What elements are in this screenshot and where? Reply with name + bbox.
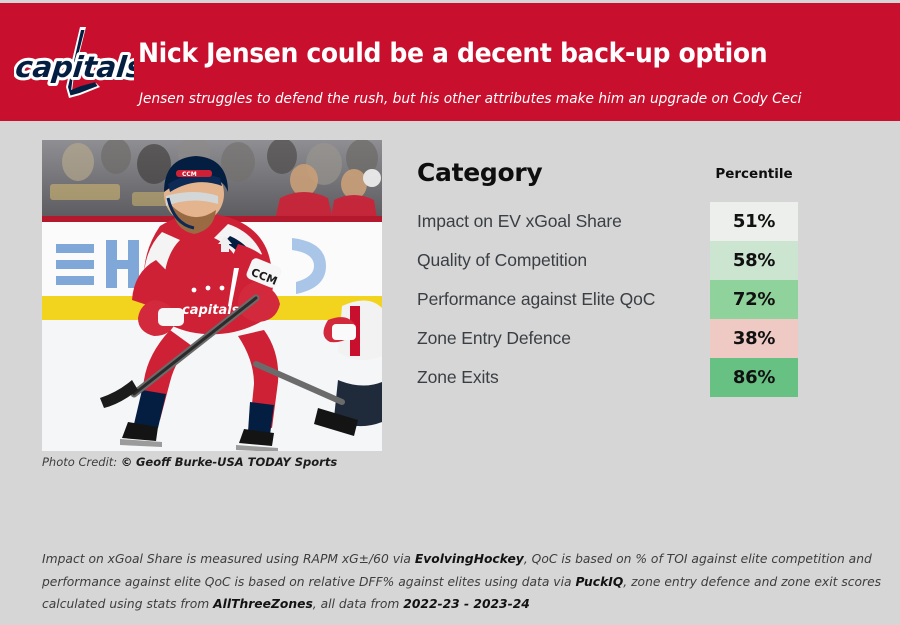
table-row: Quality of Competition 58% xyxy=(417,241,817,280)
row-percentile-cell: 58% xyxy=(710,241,798,280)
player-photo-block: capitals CCM CCM xyxy=(42,140,382,451)
source-puckiq: PuckIQ xyxy=(575,575,623,589)
row-percentile-value: 72% xyxy=(733,289,775,310)
photo-credit-prefix: Photo Credit: xyxy=(42,455,117,469)
row-percentile-value: 86% xyxy=(733,367,775,388)
data-seasons: 2022-23 - 2023-24 xyxy=(403,597,530,611)
table-row: Zone Exits 86% xyxy=(417,358,817,397)
footnote-text: , zone entry defence and zone exit score… xyxy=(623,575,881,589)
svg-text:CCM: CCM xyxy=(182,171,197,178)
row-category-label: Zone Exits xyxy=(417,367,499,388)
photo-credit: Photo Credit: © Geoff Burke-USA TODAY Sp… xyxy=(42,455,337,469)
category-column-header: Category xyxy=(417,158,542,187)
row-percentile-cell: 38% xyxy=(710,319,798,358)
player-photo: capitals CCM CCM xyxy=(42,140,382,451)
footnote-line-2: performance against elite QoC is based o… xyxy=(42,571,872,594)
row-category-label: Performance against Elite QoC xyxy=(417,289,655,310)
row-percentile-value: 51% xyxy=(733,211,775,232)
row-category-label: Quality of Competition xyxy=(417,250,587,271)
row-percentile-cell: 86% xyxy=(710,358,798,397)
footnote-text: performance against elite QoC is based o… xyxy=(42,575,575,589)
row-percentile-cell: 72% xyxy=(710,280,798,319)
percentile-table: Category Percentile Impact on EV xGoal S… xyxy=(417,158,817,397)
table-row: Impact on EV xGoal Share 51% xyxy=(417,202,817,241)
row-category-label: Zone Entry Defence xyxy=(417,328,571,349)
row-percentile-cell: 51% xyxy=(710,202,798,241)
footnote-line-1: Impact on xGoal Share is measured using … xyxy=(42,548,872,571)
table-row: Performance against Elite QoC 72% xyxy=(417,280,817,319)
footnote-text: Impact on xGoal Share is measured using … xyxy=(42,552,415,566)
table-header-row: Category Percentile xyxy=(417,158,817,202)
svg-text:capitals: capitals xyxy=(14,50,134,84)
footnote-text: , QoC is based on % of TOI against elite… xyxy=(524,552,872,566)
source-allthreezones: AllThreeZones xyxy=(213,597,313,611)
article-title: Nick Jensen could be a decent back-up op… xyxy=(138,37,826,71)
table-row: Zone Entry Defence 38% xyxy=(417,319,817,358)
footnote-text: , all data from xyxy=(313,597,404,611)
washington-capitals-logo: capitals capitals xyxy=(14,25,134,107)
row-percentile-value: 38% xyxy=(733,328,775,349)
row-category-label: Impact on EV xGoal Share xyxy=(417,211,622,232)
photo-credit-symbol: © xyxy=(121,455,133,469)
footnote-text: calculated using stats from xyxy=(42,597,213,611)
row-percentile-value: 58% xyxy=(733,250,775,271)
percentile-column-header: Percentile xyxy=(710,166,798,182)
header-banner: capitals capitals Nick Jensen could be a… xyxy=(0,3,900,121)
article-subtitle: Jensen struggles to defend the rush, but… xyxy=(139,91,857,107)
photo-credit-name: Geoff Burke-USA TODAY Sports xyxy=(136,455,337,469)
footnote-line-3: calculated using stats from AllThreeZone… xyxy=(42,593,872,616)
source-evolvinghockey: EvolvingHockey xyxy=(415,552,524,566)
methodology-footnote: Impact on xGoal Share is measured using … xyxy=(42,548,872,616)
